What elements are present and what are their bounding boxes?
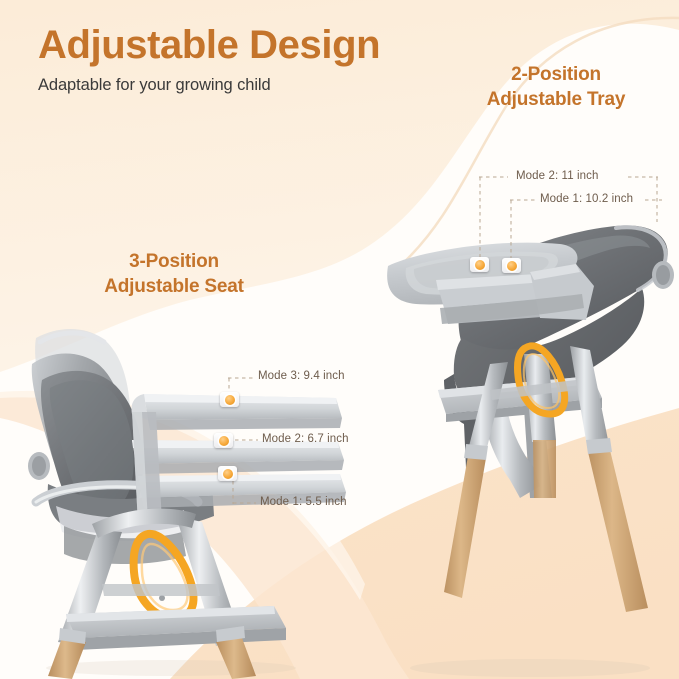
callout-seat-mode-1: Mode 1: 5.5 inch xyxy=(260,496,347,508)
mode-bar-2 xyxy=(132,440,344,474)
heading-line-2: Adjustable Tray xyxy=(432,87,679,112)
header-block: Adjustable Design Adaptable for your gro… xyxy=(38,24,438,95)
heading-line-1: 3-Position xyxy=(58,249,290,274)
callout-tray-mode-1: Mode 1: 10.2 inch xyxy=(540,193,633,205)
marker-tray-mode-1[interactable] xyxy=(502,258,521,273)
marker-tray-mode-2[interactable] xyxy=(470,257,489,272)
marker-seat-mode-1[interactable] xyxy=(218,466,237,481)
callout-seat-mode-2: Mode 2: 6.7 inch xyxy=(262,433,349,445)
callout-seat-mode-3: Mode 3: 9.4 inch xyxy=(258,370,345,382)
marker-seat-mode-2[interactable] xyxy=(214,433,233,448)
heading-line-1: 2-Position xyxy=(432,62,679,87)
section-heading-adjustable-seat: 3-Position Adjustable Seat xyxy=(58,249,290,299)
marker-seat-mode-3[interactable] xyxy=(220,392,239,407)
heading-line-2: Adjustable Seat xyxy=(58,274,290,299)
recline-knob xyxy=(28,452,50,480)
section-heading-adjustable-tray: 2-Position Adjustable Tray xyxy=(432,62,679,112)
callout-tray-mode-2: Mode 2: 11 inch xyxy=(516,170,598,182)
footrest-plate xyxy=(66,606,286,650)
page-title: Adjustable Design xyxy=(38,24,438,66)
wooden-legs xyxy=(444,438,648,612)
recline-knob xyxy=(652,261,674,289)
page-subtitle: Adaptable for your growing child xyxy=(38,76,438,95)
high-chair-illustration-tray-modes xyxy=(380,168,679,679)
infographic-poster: Adjustable Design Adaptable for your gro… xyxy=(0,0,679,679)
